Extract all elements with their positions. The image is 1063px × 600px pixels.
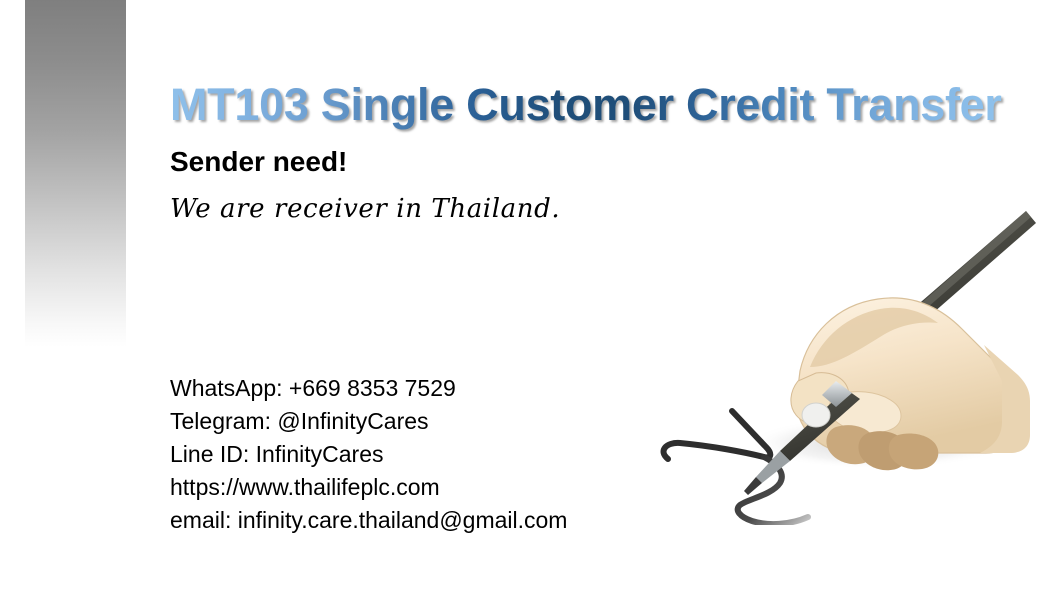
headline-text: Sender need! [170,145,347,179]
contact-line-website[interactable]: https://www.thailifeplc.com [170,471,690,504]
hand-writing-with-pen-icon [640,195,1040,525]
script-subtitle-text: We are receiver in Thailand. [170,192,560,226]
contact-line-telegram: Telegram: @InfinityCares [170,405,690,438]
contact-line-whatsapp: WhatsApp: +669 8353 7529 [170,372,690,405]
contact-line-email[interactable]: email: infinity.care.thailand@gmail.com [170,504,690,537]
ink-stroke-upper [664,411,771,459]
contact-info-block: WhatsApp: +669 8353 7529 Telegram: @Infi… [170,372,690,537]
slide-canvas: MT103 Single Customer Credit Transfer Se… [0,0,1063,600]
decorative-gradient-bar [25,0,126,347]
pen-grip-collar [802,403,830,427]
page-title: MT103 Single Customer Credit Transfer [170,80,1002,130]
contact-line-lineid: Line ID: InfinityCares [170,438,690,471]
